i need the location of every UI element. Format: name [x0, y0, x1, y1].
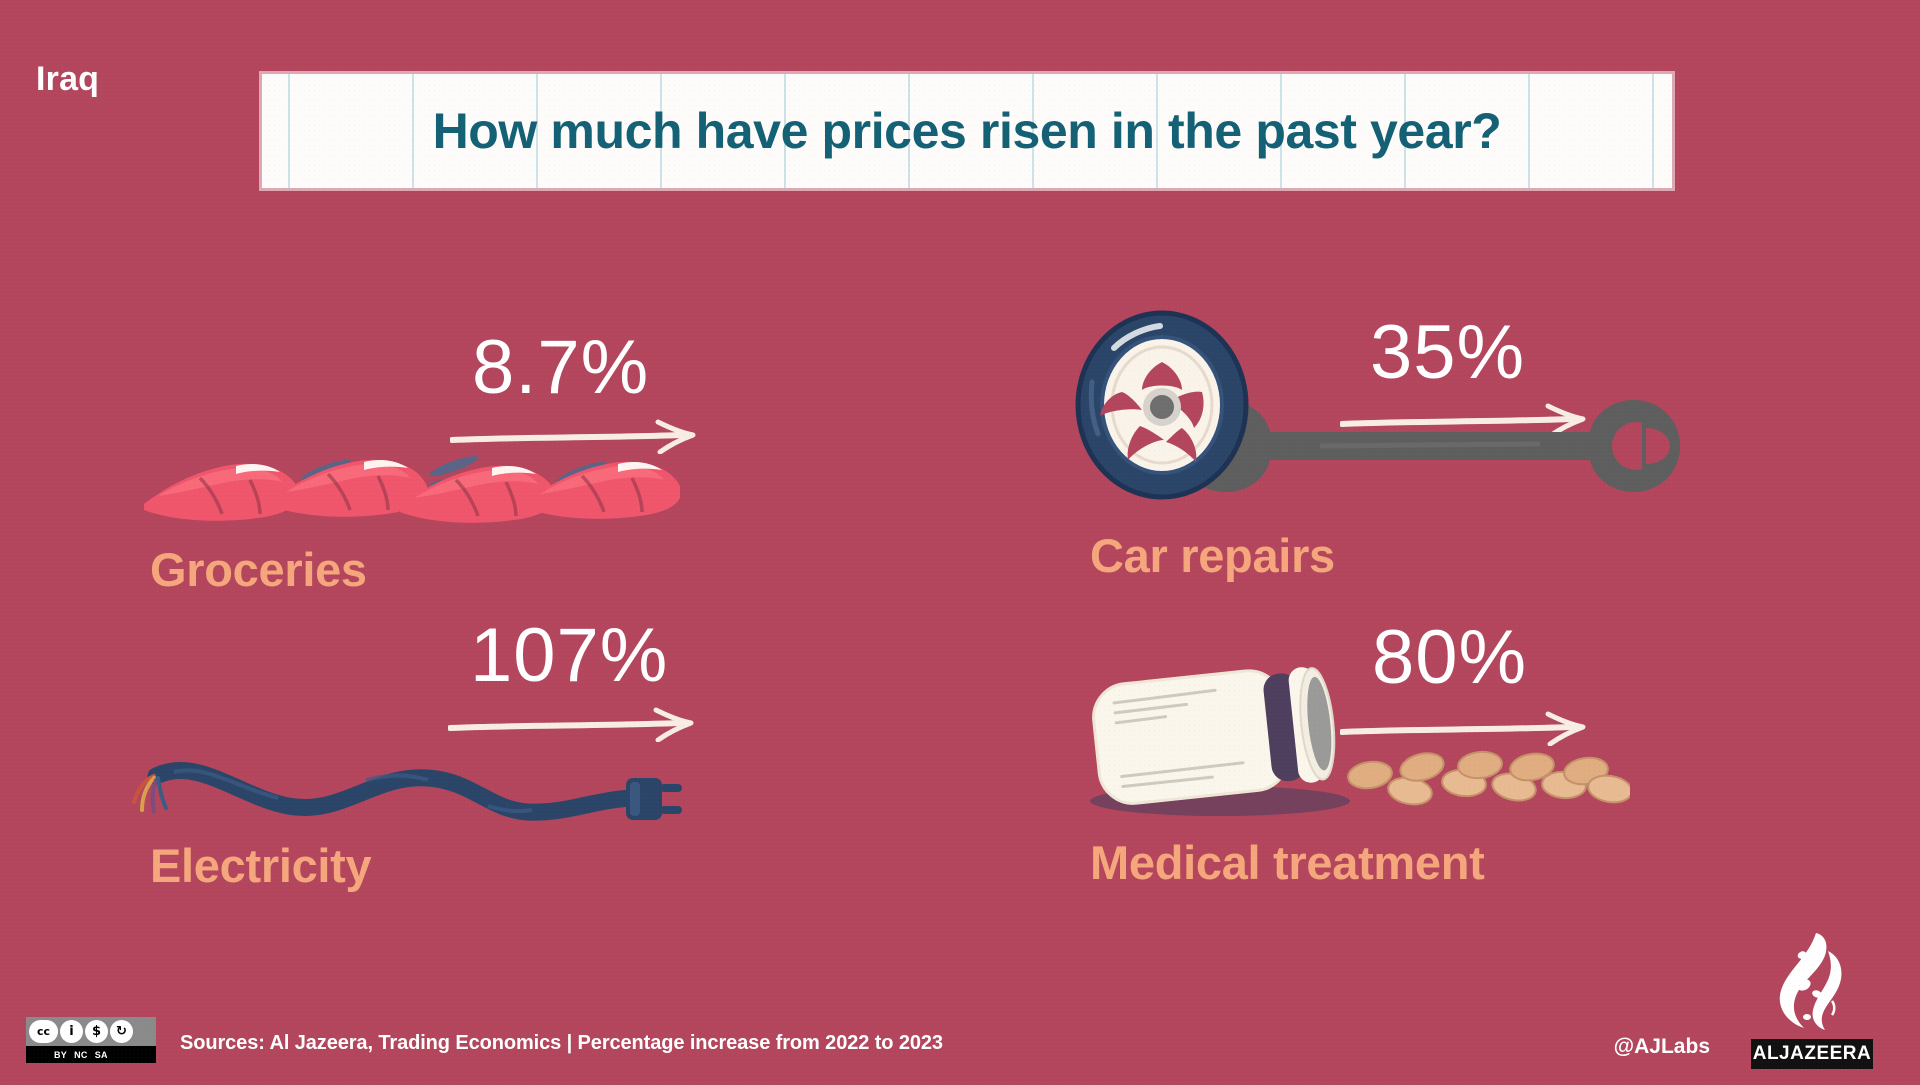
cc-labels-row: BY NC SA [26, 1046, 156, 1063]
footer: cc i $ ↻ BY NC SA Sources: Al Jazeera, T… [0, 965, 1920, 1085]
power-cord-icon [128, 740, 688, 850]
metric-value-groceries: 8.7% [472, 330, 649, 406]
page-title: How much have prices risen in the past y… [262, 74, 1672, 188]
country-label: Iraq [36, 60, 99, 99]
metric-label-car-repairs: Car repairs [1090, 528, 1335, 583]
metric-car-repairs: 35% [1090, 320, 1850, 610]
metric-label-groceries: Groceries [150, 542, 367, 597]
cc-by-icon: i [60, 1020, 83, 1043]
metric-groceries: 8.7% [150, 330, 870, 610]
aljazeera-logo: ALJAZEERA [1728, 931, 1896, 1069]
metric-electricity: 107% Electri [150, 620, 890, 910]
wheel-wrench-icon [1070, 310, 1730, 510]
metric-medical-treatment: 80% [1090, 630, 1850, 920]
cc-sa-icon: ↻ [110, 1020, 133, 1043]
cc-icons-row: cc i $ ↻ [26, 1017, 156, 1046]
aljazeera-wordmark: ALJAZEERA [1751, 1039, 1873, 1069]
title-banner: How much have prices risen in the past y… [262, 74, 1672, 188]
creative-commons-badge: cc i $ ↻ BY NC SA [26, 1017, 156, 1063]
carrots-icon [140, 440, 680, 540]
metric-label-medical-treatment: Medical treatment [1090, 835, 1485, 890]
cc-nc-label: NC [74, 1050, 88, 1060]
metric-label-electricity: Electricity [150, 838, 371, 893]
cc-logo-icon: cc [29, 1020, 58, 1043]
social-handle: @AJLabs [1614, 1035, 1710, 1059]
metric-value-electricity: 107% [470, 618, 668, 694]
infographic-canvas: Iraq How much have prices risen in the p… [0, 0, 1920, 1085]
pill-bottle-icon [1070, 625, 1630, 835]
sources-text: Sources: Al Jazeera, Trading Economics |… [180, 1032, 943, 1055]
cc-by-label: BY [54, 1050, 67, 1060]
cc-nc-icon: $ [85, 1020, 108, 1043]
aljazeera-flame-icon [1762, 931, 1862, 1035]
growth-arrow-electricity [448, 706, 708, 742]
cc-sa-label: SA [95, 1050, 108, 1060]
